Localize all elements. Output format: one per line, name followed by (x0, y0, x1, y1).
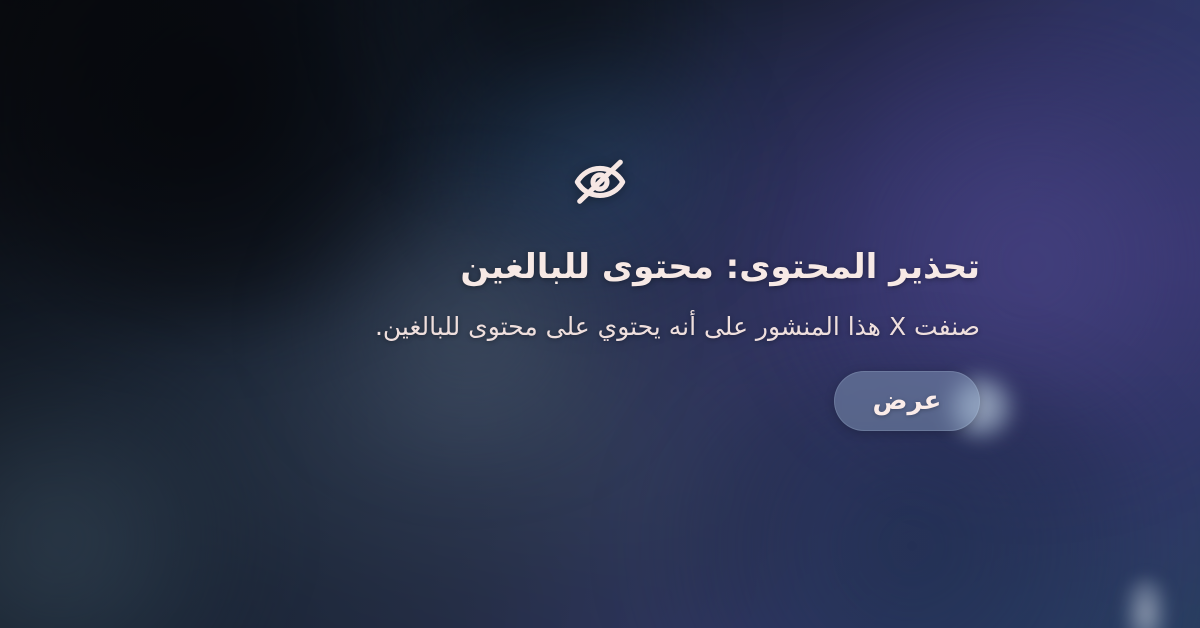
content-warning-screen: تحذير المحتوى: محتوى للبالغين صنفت X هذا… (0, 0, 1200, 628)
eye-off-icon (571, 152, 629, 210)
content-warning-title: تحذير المحتوى: محتوى للبالغين (220, 246, 980, 289)
warning-action-row: عرض (220, 371, 980, 431)
content-warning-description: صنفت X هذا المنشور على أنه يحتوي على محت… (220, 309, 980, 345)
content-warning-panel: تحذير المحتوى: محتوى للبالغين صنفت X هذا… (0, 0, 1200, 628)
warning-text-block: تحذير المحتوى: محتوى للبالغين صنفت X هذا… (220, 246, 980, 345)
view-content-button[interactable]: عرض (834, 371, 980, 431)
